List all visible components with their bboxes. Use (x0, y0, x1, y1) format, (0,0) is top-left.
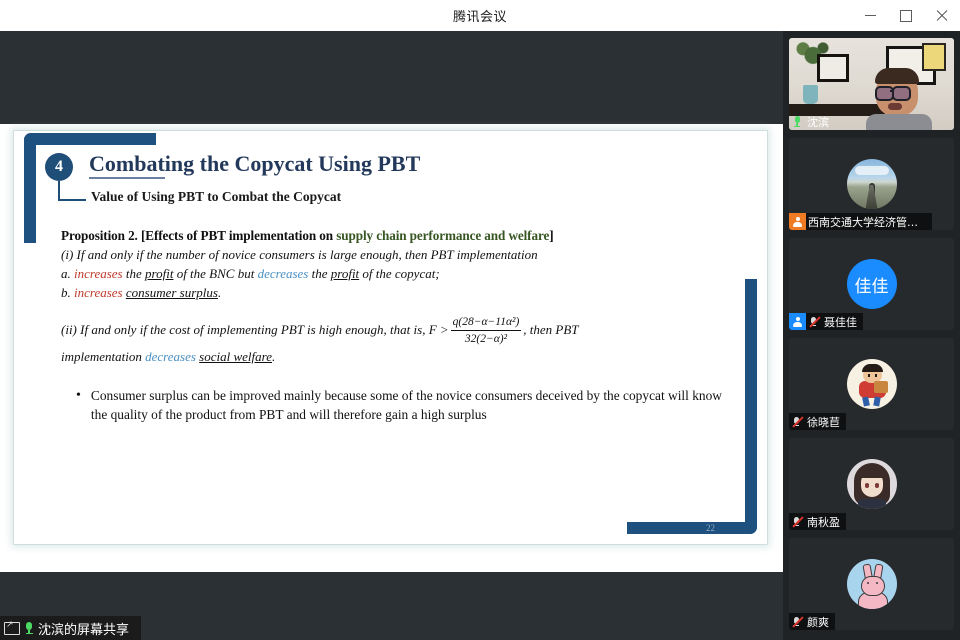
microphone-off-icon (789, 516, 805, 527)
maximize-button[interactable] (888, 0, 924, 31)
window-titlebar: 腾讯会议 (0, 0, 960, 32)
participant-name-strip: 沈滨 (789, 113, 835, 130)
line-a-decreases: decreases (258, 266, 309, 281)
decor-picture-frame-yellow (922, 43, 946, 71)
window-controls (852, 0, 960, 31)
minimize-button[interactable] (852, 0, 888, 31)
proposition-heading-prefix: Proposition 2. [Effects of PBT implement… (61, 228, 336, 243)
participant-name-strip: 徐晓苣 (789, 413, 846, 430)
line-a-tail: of the copycat; (359, 266, 440, 281)
line-b-consumer-surplus: consumer surplus (126, 285, 218, 300)
line-a-mid1: the (123, 266, 145, 281)
line-ii2-decreases: decreases (145, 349, 196, 364)
participant-tile[interactable]: 颜爽 (789, 538, 954, 630)
shared-screen-stage[interactable]: 22 4 Combating the Copycat Using PBT Val… (0, 31, 783, 640)
participant-name: 徐晓苣 (805, 414, 840, 430)
proposition-heading-highlight: supply chain performance and welfare (336, 228, 549, 243)
decor-picture-frame-small (817, 54, 849, 82)
maximize-icon (900, 10, 912, 22)
participant-name-strip: 颜爽 (789, 613, 835, 630)
participant-avatar (847, 559, 897, 609)
slide-frame-left (24, 133, 36, 243)
microphone-off-icon (806, 316, 822, 327)
formula-numerator: q(28−α−11α²) (451, 315, 522, 331)
host-badge-icon (789, 213, 806, 230)
participant-name-strip: 西南交通大学经济管理... (789, 213, 932, 230)
proposition-line-ii: (ii) If and only if the cost of implemen… (61, 315, 721, 347)
proposition-heading-suffix: ] (549, 228, 553, 243)
line-a-mid3: the (308, 266, 330, 281)
proposition-heading: Proposition 2. [Effects of PBT implement… (61, 228, 721, 244)
formula-fraction: q(28−α−11α²)32(2−α)² (451, 315, 522, 346)
participant-tile[interactable]: 南秋盈 (789, 438, 954, 530)
participant-avatar: 佳佳 (847, 259, 897, 309)
participant-name: 颜爽 (805, 614, 829, 630)
proposition-line-ii-2: implementation decreases social welfare. (61, 349, 721, 365)
participant-name: 沈滨 (805, 114, 829, 130)
line-a-mid2: of the BNC but (173, 266, 257, 281)
microphone-off-icon (789, 416, 805, 427)
slide-title-rest: ing the Copycat Using PBT (165, 151, 420, 176)
badge-connector-horizontal (58, 199, 86, 201)
line-b-increases: increases (74, 285, 123, 300)
microphone-on-icon (789, 116, 805, 127)
line-ii-after: , then PBT (523, 322, 578, 337)
slide-frame-top (24, 133, 156, 145)
slide-frame-bottom (627, 522, 757, 534)
cohost-badge-icon (789, 313, 806, 330)
slide-section-badge: 4 (45, 153, 73, 181)
presentation-slide: 22 4 Combating the Copycat Using PBT Val… (14, 131, 767, 544)
participant-avatar (847, 359, 897, 409)
slide-subtitle: Value of Using PBT to Combat the Copycat (91, 189, 341, 205)
bullet-marker: • (76, 386, 81, 424)
participant-tile[interactable]: 沈滨 (789, 38, 954, 130)
line-a-profit-1: profit (145, 266, 173, 281)
line-ii-before: (ii) If and only if the cost of implemen… (61, 322, 449, 337)
formula-denominator: 32(2−α)² (451, 331, 522, 346)
participant-tile[interactable]: 徐晓苣 (789, 338, 954, 430)
participant-tile[interactable]: 西南交通大学经济管理... (789, 138, 954, 230)
slide-title: Combating the Copycat Using PBT (89, 151, 420, 177)
line-ii2-social-welfare: social welfare (199, 349, 272, 364)
badge-connector-vertical (58, 181, 60, 201)
line-b-label: b. (61, 285, 74, 300)
participant-avatar (847, 159, 897, 209)
meeting-window: 腾讯会议 22 4 (0, 0, 960, 640)
proposition-line-a: a. increases the profit of the BNC but d… (61, 266, 721, 282)
line-ii2-before: implementation (61, 349, 145, 364)
screen-share-bar: 沈滨的屏幕共享 (0, 616, 141, 640)
line-a-increases: increases (74, 266, 123, 281)
proposition-line-b: b. increases consumer surplus. (61, 285, 721, 301)
participant-face (866, 68, 932, 130)
window-title: 腾讯会议 (453, 6, 507, 25)
minimize-icon (865, 15, 876, 16)
microphone-off-icon (789, 616, 805, 627)
screen-share-label: 沈滨的屏幕共享 (38, 619, 129, 638)
slide-page-number: 22 (706, 523, 715, 533)
participant-name: 西南交通大学经济管理... (806, 214, 926, 230)
close-icon (936, 10, 948, 22)
proposition-line-i: (i) If and only if the number of novice … (61, 247, 721, 263)
slide-body: Proposition 2. [Effects of PBT implement… (61, 228, 721, 365)
participant-name: 南秋盈 (805, 514, 840, 530)
participant-tile[interactable]: 佳佳 聂佳佳 (789, 238, 954, 330)
line-a-profit-2: profit (331, 266, 359, 281)
microphone-on-icon (25, 622, 33, 634)
slide-title-underlined: Combat (89, 151, 165, 179)
decor-vase (803, 85, 818, 104)
slide-frame-right (745, 279, 757, 534)
slide-bullet: • Consumer surplus can be improved mainl… (76, 386, 726, 424)
line-ii2-tail: . (272, 349, 275, 364)
participant-name-strip: 聂佳佳 (789, 313, 863, 330)
close-button[interactable] (924, 0, 960, 31)
participant-avatar (847, 459, 897, 509)
participant-name: 聂佳佳 (822, 314, 857, 330)
screen-share-icon (4, 622, 20, 635)
line-a-label: a. (61, 266, 74, 281)
participant-name-strip: 南秋盈 (789, 513, 846, 530)
line-b-tail: . (218, 285, 221, 300)
bullet-text: Consumer surplus can be improved mainly … (91, 386, 726, 424)
participant-rail[interactable]: 沈滨 西南交通大学经济管理... 佳佳 (783, 31, 960, 640)
slide-canvas: 22 4 Combating the Copycat Using PBT Val… (0, 124, 783, 572)
